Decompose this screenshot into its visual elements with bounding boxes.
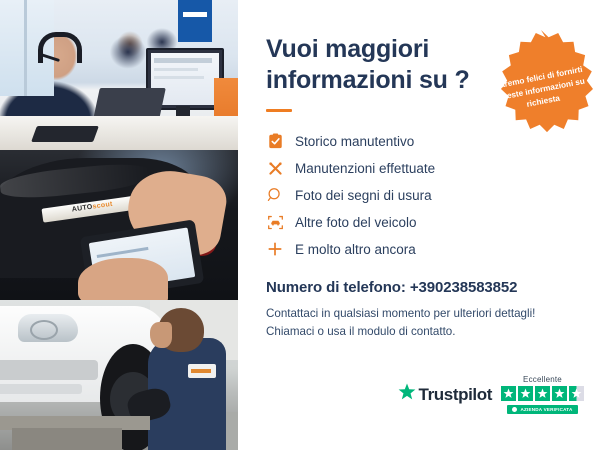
verified-label: AZIENDA VERIFICATA bbox=[520, 407, 572, 412]
trustpilot-widget[interactable]: Trustpilot Eccellente AZIENDA VERIFICATA bbox=[398, 375, 584, 414]
feature-item-altre-foto[interactable]: Altre foto del veicolo bbox=[266, 209, 578, 235]
photo-call-centre bbox=[0, 0, 238, 150]
contact-line-2: Chiamaci o usa il modulo di contatto. bbox=[266, 323, 578, 341]
tablet-on-desk bbox=[31, 126, 99, 142]
check-circle-icon bbox=[512, 407, 517, 412]
car-lift-base bbox=[12, 428, 122, 450]
headlight bbox=[18, 314, 78, 342]
phone-number[interactable]: Numero di telefono: +390238583852 bbox=[266, 279, 578, 296]
hand-holding-tablet bbox=[78, 258, 168, 300]
feature-item-foto-usura[interactable]: Foto dei segni di usura bbox=[266, 182, 578, 208]
lower-grille bbox=[0, 384, 82, 394]
star-4-icon bbox=[552, 386, 567, 401]
advertisement-banner: AUTOscout Vuoi maggiori informazioni su … bbox=[0, 0, 600, 450]
star-rating bbox=[501, 386, 584, 401]
trustpilot-name: Trustpilot bbox=[419, 385, 492, 405]
contact-line-1: Contattaci in qualsiasi momento per ulte… bbox=[266, 305, 578, 323]
verified-company-badge: AZIENDA VERIFICATA bbox=[507, 405, 577, 414]
feature-list: Storico manutentivo Manutenzioni effettu… bbox=[266, 128, 578, 262]
feature-label: Storico manutentivo bbox=[295, 134, 414, 149]
headset-icon bbox=[38, 32, 82, 63]
plus-icon bbox=[266, 240, 284, 258]
uniform-logo bbox=[188, 364, 216, 378]
mechanic-face bbox=[150, 322, 172, 348]
star-5-icon bbox=[569, 386, 584, 401]
wall-banner bbox=[178, 0, 212, 42]
feature-label: Altre foto del veicolo bbox=[295, 215, 417, 230]
feature-item-manutenzioni[interactable]: Manutenzioni effettuate bbox=[266, 155, 578, 181]
photo-column: AUTOscout bbox=[0, 0, 238, 450]
star-3-icon bbox=[535, 386, 550, 401]
front-grille bbox=[0, 360, 98, 380]
feature-label: Foto dei segni di usura bbox=[295, 188, 432, 203]
feature-item-altro[interactable]: E molto altro ancora bbox=[266, 236, 578, 262]
photo-vehicle-inspection: AUTOscout bbox=[0, 150, 238, 300]
info-panel: Vuoi maggiori informazioni su ? Saremo f… bbox=[244, 0, 600, 450]
title-underline bbox=[266, 109, 292, 112]
trustpilot-logo: Trustpilot bbox=[398, 383, 492, 406]
page-title: Vuoi maggiori informazioni su ? bbox=[266, 34, 481, 95]
feature-label: Manutenzioni effettuate bbox=[295, 161, 435, 176]
magnifier-icon bbox=[266, 186, 284, 204]
clipboard-check-icon bbox=[266, 132, 284, 150]
feature-label: E molto altro ancora bbox=[295, 242, 416, 257]
contact-description: Contattaci in qualsiasi momento per ulte… bbox=[266, 305, 578, 341]
rating-label: Eccellente bbox=[523, 375, 562, 384]
trustpilot-rating-block: Eccellente AZIENDA VERIFICATA bbox=[501, 375, 584, 414]
trustpilot-star-icon bbox=[398, 383, 416, 406]
request-info-badge: Saremo felici di fornirti queste informa… bbox=[484, 28, 598, 142]
star-1-icon bbox=[501, 386, 516, 401]
photo-wheel-check bbox=[0, 300, 238, 450]
vehicle-scan-icon bbox=[266, 213, 284, 231]
star-2-icon bbox=[518, 386, 533, 401]
crossed-tools-icon bbox=[266, 159, 284, 177]
